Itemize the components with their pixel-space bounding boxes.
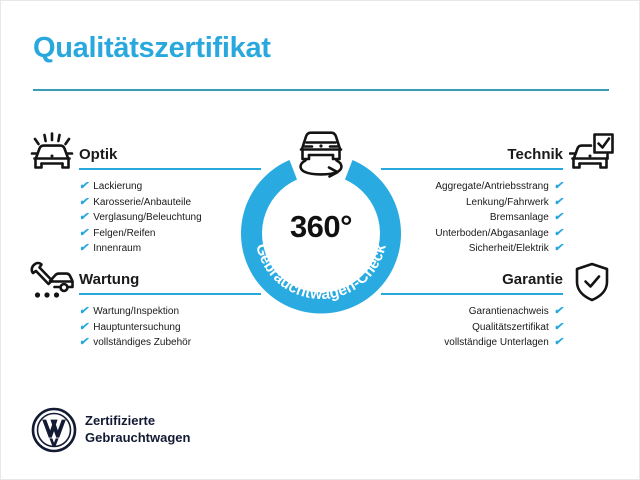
list-item: Garantienachweis ✔: [381, 304, 563, 320]
car-front-rotate-icon: [285, 122, 357, 182]
list-item-label: vollständige Unterlagen: [444, 335, 549, 351]
car-service-wrench-icon: [28, 259, 76, 306]
list-item-label: Aggregate/Antriebsstrang: [435, 179, 548, 195]
list-item-label: Qualitätszertifikat: [472, 320, 549, 336]
list-item-label: Wartung/Inspektion: [93, 304, 179, 320]
car-checkbox-icon: [569, 132, 615, 179]
check-icon: ✔: [79, 335, 88, 351]
check-icon: ✔: [79, 226, 88, 242]
section-heading-garantie: Garantie: [381, 271, 563, 289]
list-item: ✔ Verglasung/Beleuchtung: [79, 210, 261, 226]
list-item-label: Sicherheit/Elektrik: [469, 241, 549, 257]
item-list-garantie: Garantienachweis ✔ Qualitätszertifikat ✔…: [381, 304, 563, 351]
list-item-label: Bremsanlage: [490, 210, 549, 226]
section-rule-garantie: [381, 293, 563, 295]
list-item: ✔ Felgen/Reifen: [79, 226, 261, 242]
list-item-label: Verglasung/Beleuchtung: [93, 210, 201, 226]
section-garantie: Garantie Garantienachweis ✔ Qualitätszer…: [381, 271, 563, 351]
header-divider: [33, 89, 609, 91]
section-heading-technik: Technik: [381, 146, 563, 164]
list-item: Qualitätszertifikat ✔: [381, 320, 563, 336]
list-item-label: Felgen/Reifen: [93, 226, 155, 242]
list-item-label: Lackierung: [93, 179, 142, 195]
item-list-wartung: ✔ Wartung/Inspektion ✔ Hauptuntersuchung…: [79, 304, 261, 351]
check-icon: ✔: [554, 320, 563, 336]
check-icon: ✔: [79, 210, 88, 226]
check-icon: ✔: [554, 210, 563, 226]
check-icon: ✔: [79, 320, 88, 336]
list-item: ✔ Hauptuntersuchung: [79, 320, 261, 336]
list-item-label: Karosserie/Anbauteile: [93, 195, 191, 211]
section-wartung: Wartung ✔ Wartung/Inspektion ✔ Hauptunte…: [79, 271, 261, 351]
section-rule-wartung: [79, 293, 261, 295]
list-item-label: Hauptuntersuchung: [93, 320, 180, 336]
check-icon: ✔: [554, 226, 563, 242]
list-item-label: Lenkung/Fahrwerk: [466, 195, 549, 211]
list-item-label: Unterboden/Abgasanlage: [435, 226, 548, 242]
section-technik: Technik Aggregate/Antriebsstrang ✔ Lenku…: [381, 146, 563, 257]
list-item: Lenkung/Fahrwerk ✔: [381, 195, 563, 211]
list-item-label: Garantienachweis: [469, 304, 549, 320]
section-rule-technik: [381, 168, 563, 170]
section-rule-optik: [79, 168, 261, 170]
list-item: Bremsanlage ✔: [381, 210, 563, 226]
list-item: ✔ Lackierung: [79, 179, 261, 195]
volkswagen-logo-icon: [31, 407, 77, 453]
list-item-label: vollständiges Zubehör: [93, 335, 191, 351]
section-optik: Optik ✔ Lackierung ✔ Karosserie/Anbautei…: [79, 146, 261, 257]
list-item: ✔ Innenraum: [79, 241, 261, 257]
list-item: Aggregate/Antriebsstrang ✔: [381, 179, 563, 195]
badge-center-label: 360°: [239, 209, 403, 245]
footer-brand-text: Zertifizierte Gebrauchtwagen: [85, 412, 190, 446]
section-heading-wartung: Wartung: [79, 271, 261, 289]
list-item: vollständige Unterlagen ✔: [381, 335, 563, 351]
list-item-label: Innenraum: [93, 241, 141, 257]
list-item: ✔ vollständiges Zubehör: [79, 335, 261, 351]
check-icon: ✔: [554, 195, 563, 211]
shield-check-icon: [573, 261, 611, 308]
item-list-optik: ✔ Lackierung ✔ Karosserie/Anbauteile ✔ V…: [79, 179, 261, 257]
check-icon: ✔: [554, 304, 563, 320]
list-item: ✔ Karosserie/Anbauteile: [79, 195, 261, 211]
list-item: Unterboden/Abgasanlage ✔: [381, 226, 563, 242]
item-list-technik: Aggregate/Antriebsstrang ✔ Lenkung/Fahrw…: [381, 179, 563, 257]
qualitaetszertifikat-page: Qualitätszertifikat: [0, 0, 640, 480]
list-item: Sicherheit/Elektrik ✔: [381, 241, 563, 257]
check-icon: ✔: [79, 241, 88, 257]
footer-line-2: Gebrauchtwagen: [85, 429, 190, 446]
footer-line-1: Zertifizierte: [85, 412, 190, 429]
page-title: Qualitätszertifikat: [33, 32, 271, 65]
check-icon: ✔: [79, 304, 88, 320]
list-item: ✔ Wartung/Inspektion: [79, 304, 261, 320]
check-icon: ✔: [554, 241, 563, 257]
check-icon: ✔: [79, 195, 88, 211]
section-heading-optik: Optik: [79, 146, 261, 164]
check-icon: ✔: [554, 335, 563, 351]
check-icon: ✔: [554, 179, 563, 195]
check-icon: ✔: [79, 179, 88, 195]
360-gebrauchtwagen-check-badge: Gebrauchtwagen-Check 360°: [239, 151, 403, 315]
car-shine-icon: [28, 132, 76, 179]
